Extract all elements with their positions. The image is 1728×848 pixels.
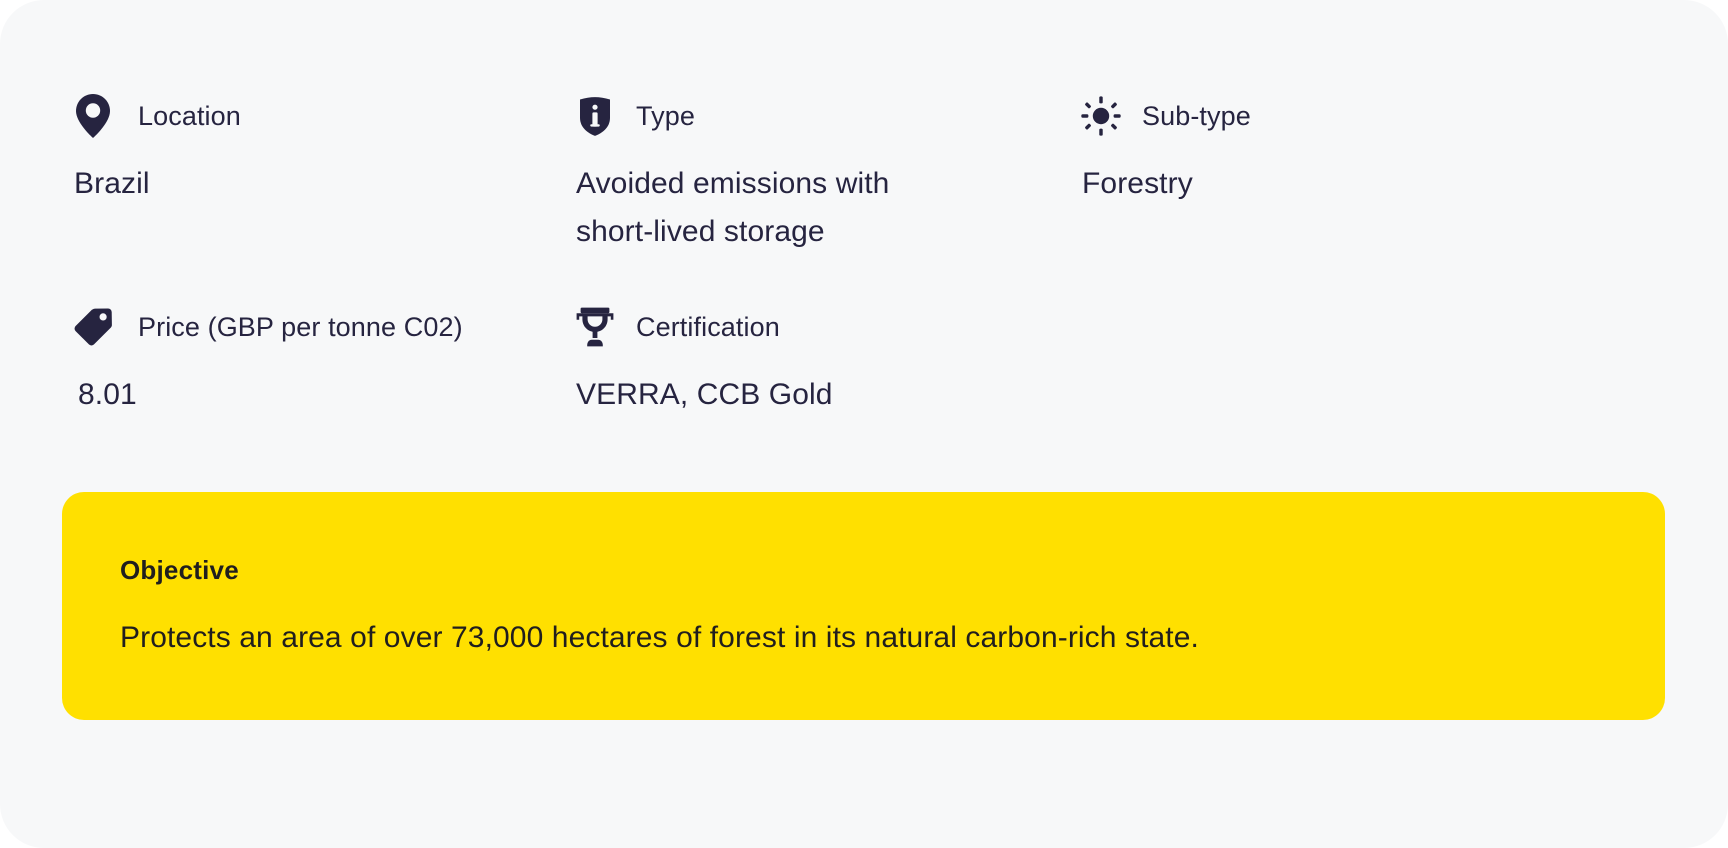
fact-type-label: Type [636,100,695,132]
fact-price: Price (GBP per tonne C02) 8.01 [72,303,463,419]
fact-price-header: Price (GBP per tonne C02) [72,303,463,351]
fact-type-value: Avoided emissions with short-lived stora… [574,160,936,256]
fact-type: Type Avoided emissions with short-lived … [574,92,936,256]
trophy-icon [574,304,616,350]
fact-location-header: Location [72,92,241,140]
fact-price-value: 8.01 [76,371,438,419]
fact-subtype-label: Sub-type [1142,100,1251,132]
fact-certification-header: Certification [574,303,833,351]
objective-title: Objective [120,554,1607,586]
price-tag-icon [72,304,114,350]
fact-location-label: Location [138,100,241,132]
fact-certification: Certification VERRA, CCB Gold [574,303,833,419]
objective-banner: Objective Protects an area of over 73,00… [62,492,1665,720]
project-detail-card: Location Brazil Type Avoided emissions w… [0,0,1728,848]
fact-subtype-header: Sub-type [1080,92,1251,140]
fact-subtype-value: Forestry [1080,160,1251,208]
fact-price-label: Price (GBP per tonne C02) [138,311,463,343]
fact-type-header: Type [574,92,936,140]
fact-location-value: Brazil [72,160,241,208]
sun-icon [1080,93,1122,139]
location-pin-icon [72,93,114,139]
objective-text: Protects an area of over 73,000 hectares… [120,618,1607,658]
info-shield-icon [574,93,616,139]
fact-location: Location Brazil [72,92,241,208]
fact-certification-value: VERRA, CCB Gold [574,371,833,419]
fact-subtype: Sub-type Forestry [1080,92,1251,208]
fact-certification-label: Certification [636,311,780,343]
